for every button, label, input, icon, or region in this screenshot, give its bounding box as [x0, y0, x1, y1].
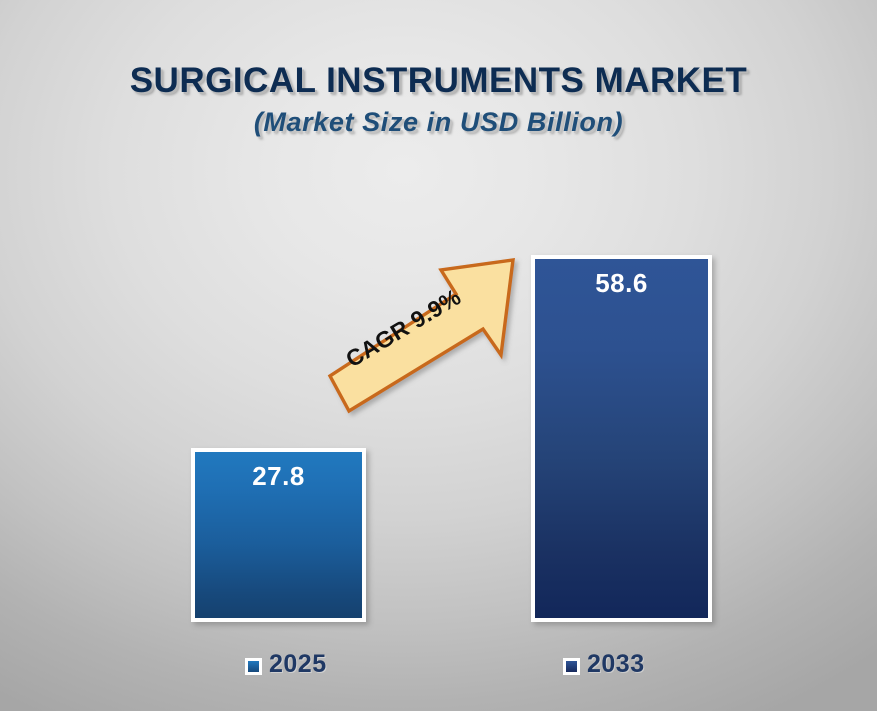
bar-value-label-2025: 27.8 — [195, 461, 362, 492]
legend-swatch-2033-icon — [563, 658, 580, 675]
legend-item-2033[interactable]: 2033 — [563, 650, 645, 679]
legend: 2025 2033 — [0, 650, 877, 686]
legend-swatch-2025-icon — [245, 658, 262, 675]
cagr-growth-arrow[interactable]: CAGR 9.9% — [320, 243, 530, 423]
chart-canvas: SURGICAL INSTRUMENTS MARKET (Market Size… — [0, 0, 877, 711]
bar-2033[interactable]: 58.6 — [531, 255, 712, 622]
bar-value-label-2033: 58.6 — [535, 268, 708, 299]
legend-label-2033: 2033 — [587, 650, 645, 679]
page-title: SURGICAL INSTRUMENTS MARKET — [0, 60, 877, 101]
growth-arrow-icon — [330, 260, 513, 411]
legend-item-2025[interactable]: 2025 — [245, 650, 327, 679]
chart-title-block: SURGICAL INSTRUMENTS MARKET (Market Size… — [0, 60, 877, 138]
chart-subtitle: (Market Size in USD Billion) — [0, 107, 877, 138]
legend-label-2025: 2025 — [269, 650, 327, 679]
bar-2025[interactable]: 27.8 — [191, 448, 366, 622]
